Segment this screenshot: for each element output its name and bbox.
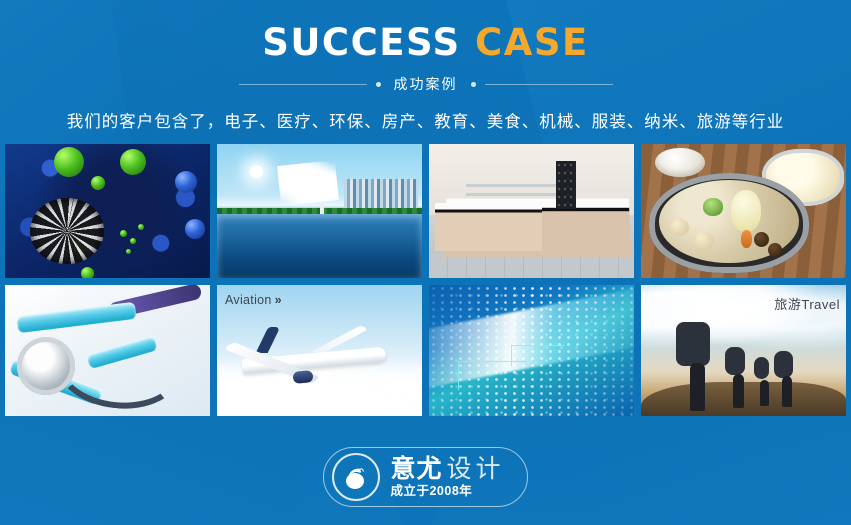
title-accent: CASE	[475, 21, 589, 64]
nano-sphere-icon	[138, 224, 144, 230]
gallery-item-laboratory-furniture[interactable]	[429, 144, 634, 278]
aviation-caption: Aviation»	[225, 293, 282, 307]
subtitle-divider: 成功案例	[0, 74, 851, 94]
page-title: SUCCESS CASE	[0, 24, 851, 61]
hiker-figure-icon	[690, 363, 705, 411]
bird-logo-icon	[341, 462, 371, 492]
nano-sphere-icon	[130, 238, 136, 244]
case-gallery-grid: Aviation» 旅游Travel	[5, 144, 846, 416]
sun-icon	[250, 165, 263, 178]
nano-sphere-icon	[120, 149, 146, 175]
lab-shelf-icon	[466, 184, 560, 187]
brand-established: 成立于2008年	[390, 485, 504, 498]
nano-sphere-icon	[54, 147, 84, 177]
nano-sphere-icon	[175, 171, 197, 193]
title-main: SUCCESS	[262, 21, 460, 64]
nano-sphere-icon	[120, 230, 127, 237]
brand-name-light: 设计	[447, 456, 505, 482]
brand-badge[interactable]: 意尤 设计 成立于2008年	[323, 447, 527, 507]
gallery-item-environmental-protection[interactable]	[217, 144, 422, 278]
divider-line-left	[239, 84, 367, 85]
fullerene-icon	[30, 198, 104, 264]
circuit-trace-icon	[511, 345, 564, 366]
subtitle-chinese: 成功案例	[390, 74, 462, 94]
travel-caption: 旅游Travel	[774, 294, 840, 313]
chicken-icon	[670, 219, 689, 236]
lab-control-panel-icon	[556, 161, 576, 209]
greens-icon	[703, 198, 723, 216]
brand-logo	[332, 453, 380, 501]
chevron-right-icon: »	[275, 293, 282, 307]
banner-header: SUCCESS CASE 成功案例 我们的客户包含了，电子、医疗、环保、房产、教…	[0, 0, 851, 132]
gallery-item-aviation[interactable]: Aviation»	[217, 285, 422, 416]
factory-plant-icon	[344, 179, 418, 211]
gallery-item-travel-hiking[interactable]: 旅游Travel	[641, 285, 846, 416]
cabbage-icon	[731, 190, 761, 232]
backpack-icon	[676, 322, 710, 366]
backpack-icon	[754, 357, 769, 379]
backpack-icon	[774, 351, 793, 378]
nano-sphere-icon	[81, 267, 94, 278]
lab-bench-icon	[435, 203, 542, 251]
brand-name-row: 意尤 设计	[390, 456, 504, 482]
success-case-banner: SUCCESS CASE 成功案例 我们的客户包含了，电子、医疗、环保、房产、教…	[0, 0, 851, 525]
divider-dot-left-icon	[376, 82, 381, 87]
airplane-tail-icon	[256, 327, 281, 353]
hiker-figure-icon	[733, 374, 744, 408]
aviation-caption-text: Aviation	[225, 293, 272, 307]
hiker-figure-icon	[782, 376, 792, 407]
smoke-plume-icon	[277, 160, 339, 206]
lab-floor	[429, 254, 634, 278]
divider-line-right	[485, 84, 613, 85]
brand-text: 意尤 设计 成立于2008年	[390, 456, 504, 498]
nano-sphere-icon	[126, 249, 131, 254]
gallery-item-electronics-circuit[interactable]	[429, 285, 634, 416]
brand-name-bold: 意尤	[390, 456, 442, 482]
side-bowl-icon	[655, 148, 704, 177]
gallery-item-food-hotpot[interactable]	[641, 144, 846, 278]
tagline-text: 我们的客户包含了，电子、医疗、环保、房产、教育、美食、机械、服装、纳米、旅游等行…	[0, 108, 851, 132]
divider-dot-right-icon	[471, 82, 476, 87]
nano-sphere-icon	[185, 219, 205, 239]
footer-logo-area: 意尤 设计 成立于2008年	[0, 447, 851, 507]
gallery-item-medical-equipment[interactable]	[5, 285, 210, 416]
water-surface	[217, 214, 422, 278]
gallery-item-nanotechnology[interactable]	[5, 144, 210, 278]
backpack-icon	[725, 347, 745, 375]
carrot-icon	[741, 230, 752, 248]
hiker-figure-icon	[760, 380, 769, 406]
syringe-icon	[17, 301, 137, 332]
nano-sphere-icon	[91, 176, 105, 190]
